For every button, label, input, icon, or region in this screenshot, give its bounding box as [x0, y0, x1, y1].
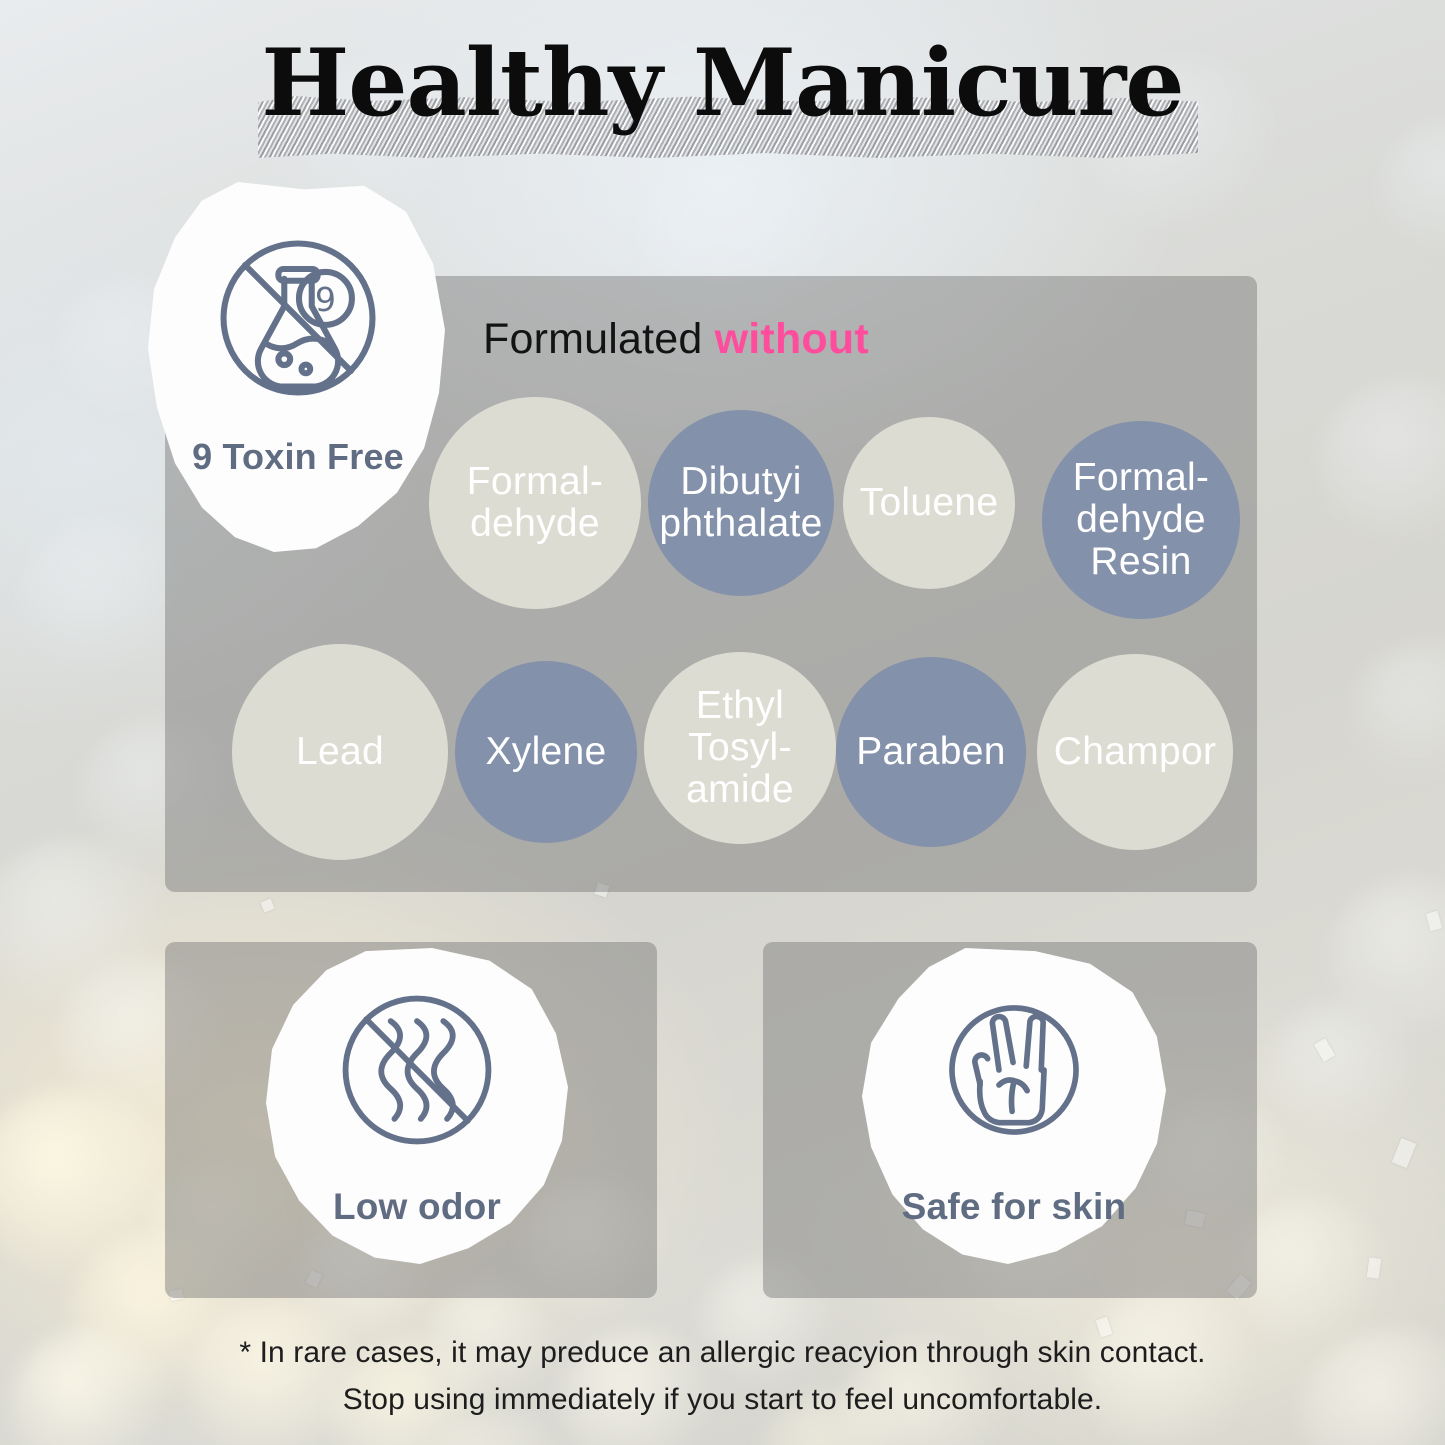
chemical-circle-champor: Champor [1037, 654, 1233, 850]
chemical-label: Dibutyi phthalate [659, 461, 822, 545]
page-title: Healthy Manicure [0, 36, 1445, 129]
chemical-circle-lead: Lead [232, 644, 448, 860]
chemical-label: Xylene [485, 731, 606, 773]
no-chemical-flask-icon: 9 [200, 220, 396, 416]
low-odor-badge: Low odor [266, 948, 568, 1264]
chemical-label: Formal- dehyde Resin [1073, 457, 1209, 583]
chemical-circle-formal--dehyde-resin: Formal- dehyde Resin [1042, 421, 1240, 619]
chemical-circle-formal--dehyde: Formal- dehyde [429, 397, 641, 609]
disclaimer-line-2: Stop using immediately if you start to f… [0, 1377, 1445, 1424]
chemical-circle-toluene: Toluene [843, 417, 1015, 589]
disclaimer-line-1: * In rare cases, it may preduce an aller… [0, 1330, 1445, 1377]
safe-for-skin-label: Safe for skin [902, 1186, 1127, 1228]
formulated-prefix: Formulated [483, 315, 715, 363]
toxin-free-badge: 9 9 Toxin Free [148, 182, 448, 552]
bokeh-spot [1270, 1000, 1420, 1138]
formulated-without-heading: Formulated without [483, 315, 869, 364]
chemical-circle-xylene: Xylene [455, 661, 637, 843]
low-odor-label: Low odor [333, 1186, 501, 1228]
svg-text:9: 9 [315, 280, 336, 319]
chemical-circle-paraben: Paraben [836, 657, 1026, 847]
chemical-circle-dibutyi-phthalate: Dibutyi phthalate [648, 410, 834, 596]
chemical-label: Formal- dehyde [467, 461, 603, 545]
chemical-label: Paraben [856, 731, 1006, 773]
no-odor-icon [323, 976, 511, 1164]
chemical-circle-ethyl-tosyl--amide: Ethyl Tosyl- amide [644, 652, 836, 844]
disclaimer: * In rare cases, it may preduce an aller… [0, 1330, 1445, 1423]
chemical-label: Champor [1054, 731, 1217, 773]
peace-hand-icon [920, 976, 1108, 1164]
without-highlight: without [715, 315, 869, 363]
chemical-label: Ethyl Tosyl- amide [686, 685, 794, 811]
safe-for-skin-badge: Safe for skin [862, 948, 1166, 1264]
chemical-label: Toluene [860, 482, 999, 524]
toxin-free-label: 9 Toxin Free [192, 436, 404, 478]
chemical-label: Lead [296, 731, 384, 773]
